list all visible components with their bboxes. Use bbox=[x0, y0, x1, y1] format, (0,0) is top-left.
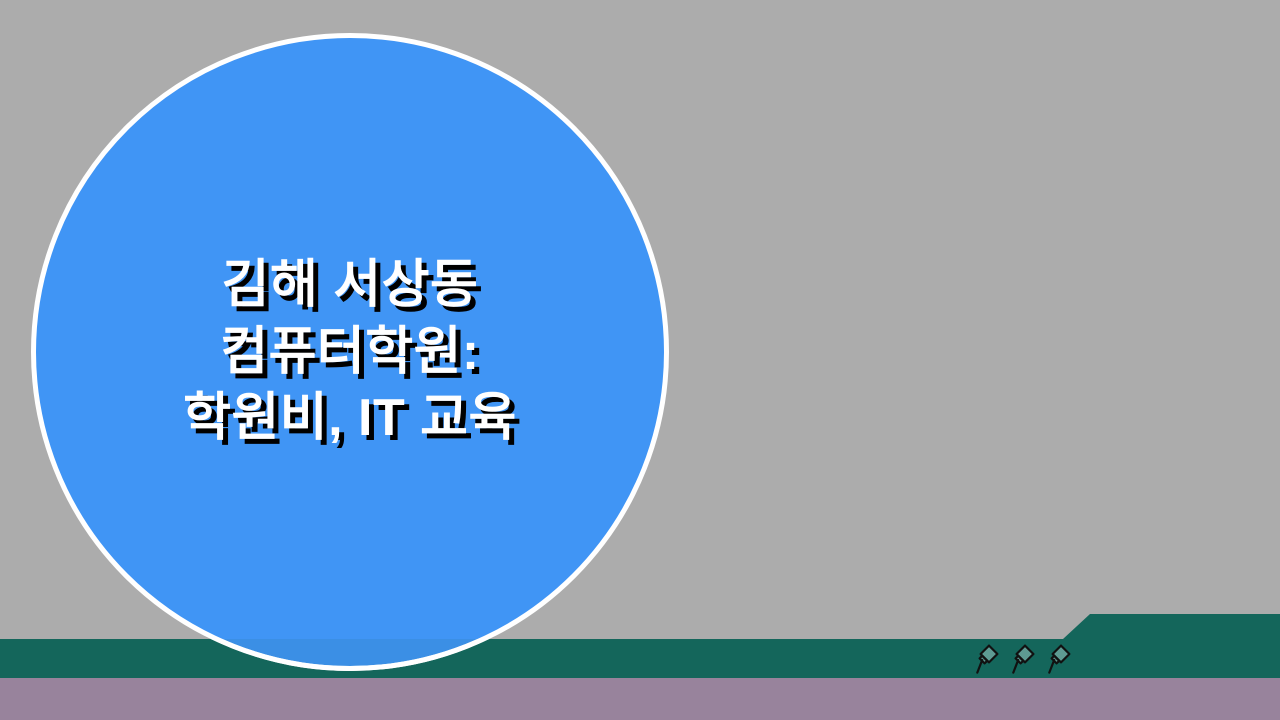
hero-circle: 김해 서상동 컴퓨터학원: 학원비, IT 교육 bbox=[31, 33, 669, 671]
pushpin-icon bbox=[976, 644, 999, 674]
pushpin-icon bbox=[1048, 644, 1071, 674]
page-title: 김해 서상동 컴퓨터학원: 학원비, IT 교육 bbox=[150, 252, 550, 452]
pushpin-icon bbox=[1012, 644, 1035, 674]
slide-canvas: 김해 서상동 컴퓨터학원: 학원비, IT 교육 bbox=[0, 0, 1280, 720]
pushpin-decoration-group bbox=[976, 643, 1072, 675]
purple-footer-band bbox=[0, 677, 1280, 720]
